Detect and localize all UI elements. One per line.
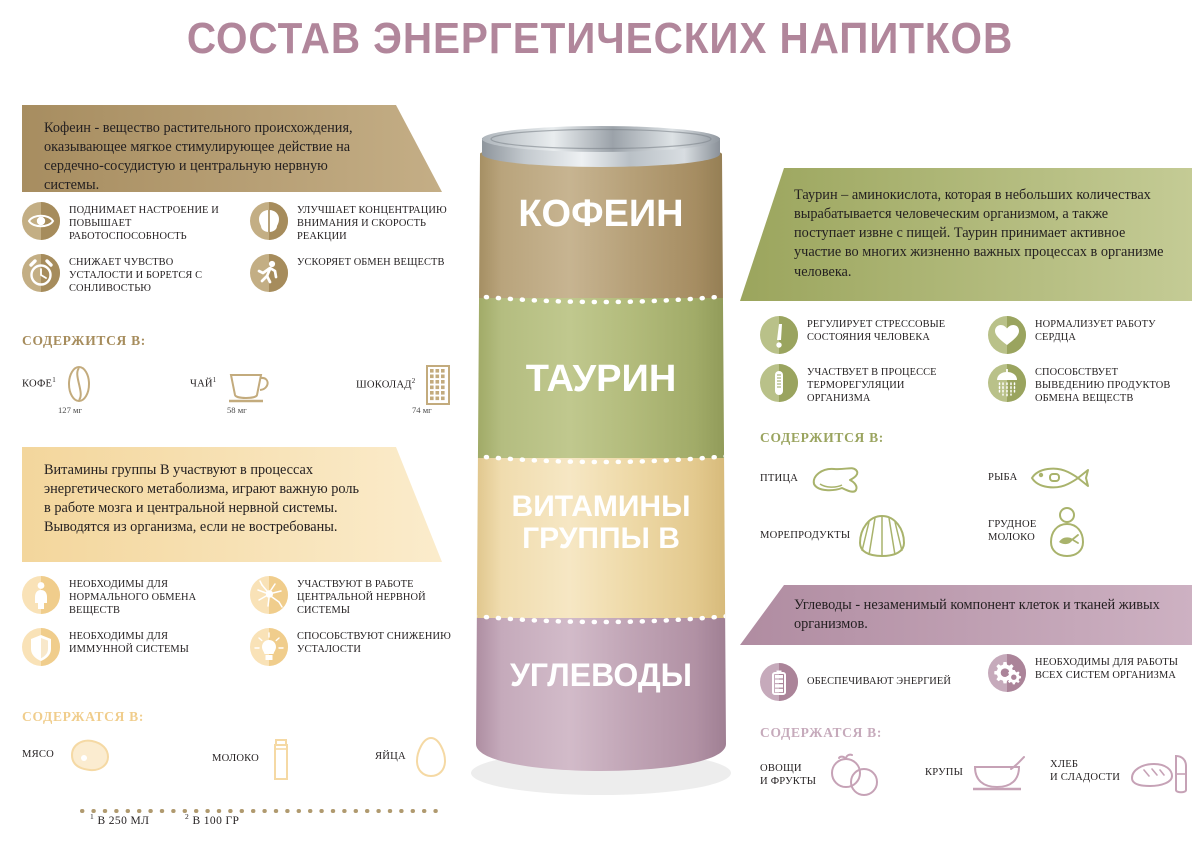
running-man-icon [250,254,288,292]
caffeine-benefits: ПОДНИМАЕТ НАСТРОЕНИЕ И ПОВЫШАЕТ РАБОТОСП… [22,192,442,302]
source-label: КОФЕ1 [22,376,56,391]
benefit-item: УЧАСТВУЮТ В РАБОТЕ ЦЕНТРАЛЬНОЙ НЕРВНОЙ С… [250,576,450,617]
source-amount: 127 мг [58,405,82,415]
coffee-bean-icon [64,363,94,405]
source-item: МОРЕПРОДУКТЫ [760,513,906,559]
tea-cup-icon [225,363,275,405]
vitamins-description: Витамины группы В участвуют в процессах … [44,461,364,538]
brain-icon [250,202,288,240]
benefit-item: УСКОРЯЕТ ОБМЕН ВЕЩЕСТВ [250,254,450,292]
source-item: ПТИЦА [760,460,868,498]
footnote-1: 1 В 250 МЛ [90,812,149,827]
shield-icon [22,628,60,666]
taurine-banner: Таурин – аминокислота, которая в небольш… [740,168,1192,301]
meat-icon [62,735,116,775]
benefit-label: УЛУЧШАЕТ КОНЦЕНТРАЦИЮ ВНИМАНИЯ И СКОРОСТ… [297,202,450,243]
source-item: МОЛОКО [212,735,295,783]
source-item: ЯЙЦА [375,735,448,779]
benefit-item: СПОСОБСТВУЕТ ВЫВЕДЕНИЮ ПРОДУКТОВ ОБМЕНА … [988,364,1186,405]
eye-icon [22,202,60,240]
benefit-item: НЕОБХОДИМЫ ДЛЯ НОРМАЛЬНОГО ОБМЕНА ВЕЩЕСТ… [22,576,222,617]
carbs-banner: Углеводы - незаменимый компонент клеток … [740,585,1192,645]
source-label: ХЛЕБ И СЛАДОСТИ [1050,759,1120,784]
source-label: ПТИЦА [760,473,798,486]
benefit-item: УЧАСТВУЕТ В ПРОЦЕССЕ ТЕРМОРЕГУЛЯЦИИ ОРГА… [760,364,955,405]
source-item: КОФЕ1 [22,363,94,405]
carbs-contains-label: СОДЕРЖАТСЯ В: [760,725,882,741]
carbs-benefits: ОБЕСПЕЧИВАЮТ ЭНЕРГИЕЙ НЕОБХОДИМЫ ДЛЯ РАБ… [740,645,1192,715]
can-band-label-vitamins-1: ВИТАМИНЫ [512,490,691,523]
human-body-icon [22,576,60,614]
benefit-label: УЧАСТВУЮТ В РАБОТЕ ЦЕНТРАЛЬНОЙ НЕРВНОЙ С… [297,576,450,617]
benefit-label: СНИЖАЕТ ЧУВСТВО УСТАЛОСТИ И БОРЕТСЯ С СО… [69,254,222,295]
cereal-bowl-icon [971,753,1027,793]
source-label: ЯЙЦА [375,751,406,764]
milk-carton-icon [267,735,295,783]
source-label: ШОКОЛАД2 [356,377,415,392]
benefit-label: ПОДНИМАЕТ НАСТРОЕНИЕ И ПОВЫШАЕТ РАБОТОСП… [69,202,222,243]
benefit-item: НЕОБХОДИМЫ ДЛЯ ИММУННОЙ СИСТЕМЫ [22,628,222,666]
can-band-label-taurine: ТАУРИН [526,358,677,400]
source-amount: 74 мг [412,405,432,415]
benefit-label: УСКОРЯЕТ ОБМЕН ВЕЩЕСТВ [297,254,444,269]
footnotes: 1 В 250 МЛ 2 В 100 ГР [80,800,460,818]
section-carbs: Углеводы - незаменимый компонент клеток … [740,585,1192,715]
vitamins-benefits: НЕОБХОДИМЫ ДЛЯ НОРМАЛЬНОГО ОБМЕНА ВЕЩЕСТ… [22,562,442,672]
neuron-icon [250,576,288,614]
benefit-label: НЕОБХОДИМЫ ДЛЯ ИММУННОЙ СИСТЕМЫ [69,628,222,656]
benefit-item: УЛУЧШАЕТ КОНЦЕНТРАЦИЮ ВНИМАНИЯ И СКОРОСТ… [250,202,450,243]
source-label: РЫБА [988,472,1018,485]
benefit-item: НЕОБХОДИМЫ ДЛЯ РАБОТЫ ВСЕХ СИСТЕМ ОРГАНИ… [988,654,1188,692]
can-band-label-carbs: УГЛЕВОДЫ [510,657,692,693]
source-label: МОРЕПРОДУКТЫ [760,530,850,543]
bread-icon [1128,748,1190,796]
benefit-label: УЧАСТВУЕТ В ПРОЦЕССЕ ТЕРМОРЕГУЛЯЦИИ ОРГА… [807,364,955,405]
taurine-description: Таурин – аминокислота, которая в небольш… [794,186,1172,282]
egg-icon [414,735,448,779]
taurine-contains-label: СОДЕРЖИТСЯ В: [760,430,884,446]
energy-drink-can: КОФЕИН ТАУРИН ВИТАМИНЫ ГРУППЫ В УГЛЕВОДЫ [470,108,732,808]
exclamation-icon [760,316,798,354]
caffeine-contains-label: СОДЕРЖИТСЯ В: [22,333,146,349]
vitamins-contains-label: СОДЕРЖАТСЯ В: [22,709,144,725]
can-band-label-caffeine: КОФЕИН [518,193,683,235]
source-item: МЯСО [22,735,116,775]
source-item: ЧАЙ1 [190,363,275,405]
benefit-item: ПОДНИМАЕТ НАСТРОЕНИЕ И ПОВЫШАЕТ РАБОТОСП… [22,202,222,243]
benefit-label: СПОСОБСТВУЕТ ВЫВЕДЕНИЮ ПРОДУКТОВ ОБМЕНА … [1035,364,1186,405]
shell-icon [858,513,906,559]
benefit-label: РЕГУЛИРУЕТ СТРЕССОВЫЕ СОСТОЯНИЯ ЧЕЛОВЕКА [807,316,955,344]
caffeine-description: Кофеин - вещество растительного происхож… [44,119,364,196]
heart-icon [988,316,1026,354]
fruits-icon [824,753,886,799]
source-label: ОВОЩИ И ФРУКТЫ [760,763,816,788]
benefit-label: НОРМАЛИЗУЕТ РАБОТУ СЕРДЦА [1035,316,1183,344]
benefit-label: НЕОБХОДИМЫ ДЛЯ РАБОТЫ ВСЕХ СИСТЕМ ОРГАНИ… [1035,654,1188,682]
can-band-label-vitamins-2: ГРУППЫ В [522,522,680,555]
carbs-description: Углеводы - незаменимый компонент клеток … [794,596,1172,634]
shower-icon [988,364,1026,402]
fish-icon [1026,460,1092,496]
benefit-item: РЕГУЛИРУЕТ СТРЕССОВЫЕ СОСТОЯНИЯ ЧЕЛОВЕКА [760,316,955,354]
source-item: ГРУДНОЕ МОЛОКО [988,506,1089,558]
source-label: КРУПЫ [925,767,963,780]
source-label: ГРУДНОЕ МОЛОКО [988,519,1037,544]
thermometer-icon [760,364,798,402]
benefit-label: СПОСОБСТВУЮТ СНИЖЕНИЮ УСТАЛОСТИ [297,628,455,656]
benefit-item: ОБЕСПЕЧИВАЮТ ЭНЕРГИЕЙ [760,663,970,701]
source-amount: 58 мг [227,405,247,415]
page-title: СОСТАВ ЭНЕРГЕТИЧЕСКИХ НАПИТКОВ [48,14,1152,64]
section-vitamins: Витамины группы В участвуют в процессах … [22,447,442,672]
gears-icon [988,654,1026,692]
benefit-label: ОБЕСПЕЧИВАЮТ ЭНЕРГИЕЙ [807,675,951,688]
section-caffeine: Кофеин - вещество растительного происхож… [22,105,442,302]
source-label: МЯСО [22,749,54,762]
chocolate-bar-icon [423,363,453,407]
source-item: ОВОЩИ И ФРУКТЫ [760,753,886,799]
benefit-item: СНИЖАЕТ ЧУВСТВО УСТАЛОСТИ И БОРЕТСЯ С СО… [22,254,222,295]
source-label: ЧАЙ1 [190,376,217,391]
caffeine-banner: Кофеин - вещество растительного происхож… [22,105,442,192]
vitamins-banner: Витамины группы В участвуют в процессах … [22,447,442,562]
source-item: РЫБА [988,460,1092,496]
taurine-benefits: РЕГУЛИРУЕТ СТРЕССОВЫЕ СОСТОЯНИЯ ЧЕЛОВЕКА… [740,301,1192,411]
source-item: ХЛЕБ И СЛАДОСТИ [1050,748,1190,796]
benefit-label: НЕОБХОДИМЫ ДЛЯ НОРМАЛЬНОГО ОБМЕНА ВЕЩЕСТ… [69,576,222,617]
benefit-item: НОРМАЛИЗУЕТ РАБОТУ СЕРДЦА [988,316,1183,354]
footnote-2: 2 В 100 ГР [185,812,239,827]
breastfeeding-icon [1045,506,1089,558]
lightbulb-icon [250,628,288,666]
source-label: МОЛОКО [212,753,259,766]
section-taurine: Таурин – аминокислота, которая в небольш… [740,168,1192,411]
alarm-clock-icon [22,254,60,292]
source-item: ШОКОЛАД2 [356,363,453,407]
battery-icon [760,663,798,701]
source-item: КРУПЫ [925,753,1027,793]
poultry-icon [806,460,868,498]
benefit-item: СПОСОБСТВУЮТ СНИЖЕНИЮ УСТАЛОСТИ [250,628,455,666]
